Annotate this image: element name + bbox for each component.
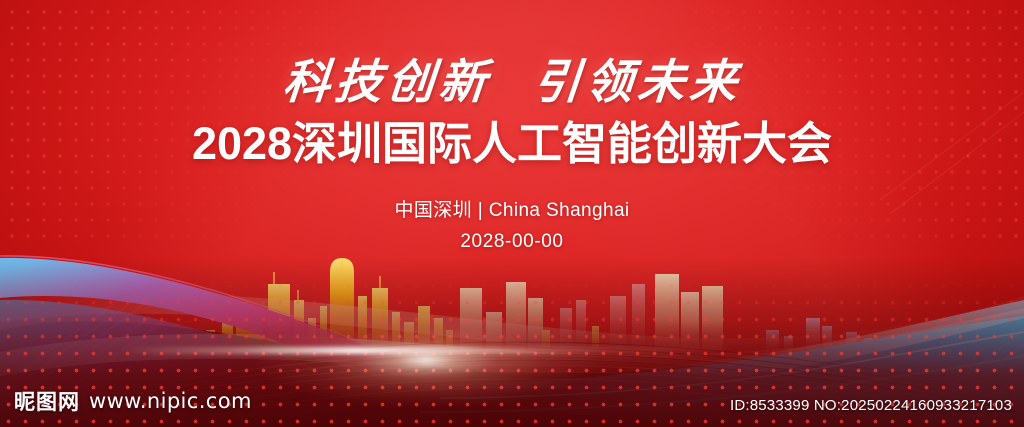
conference-banner: 科技创新 引领未来 2028深圳国际人工智能创新大会 中国深圳 | China … <box>0 0 1024 427</box>
asset-id-code: ID:8533399 NO:20250224160933217103 <box>730 397 1012 414</box>
watermark: 昵图网 www.nipic.com <box>14 386 252 416</box>
watermark-site-name: 昵图网 <box>14 386 80 416</box>
watermark-site-url: www.nipic.com <box>89 389 252 413</box>
